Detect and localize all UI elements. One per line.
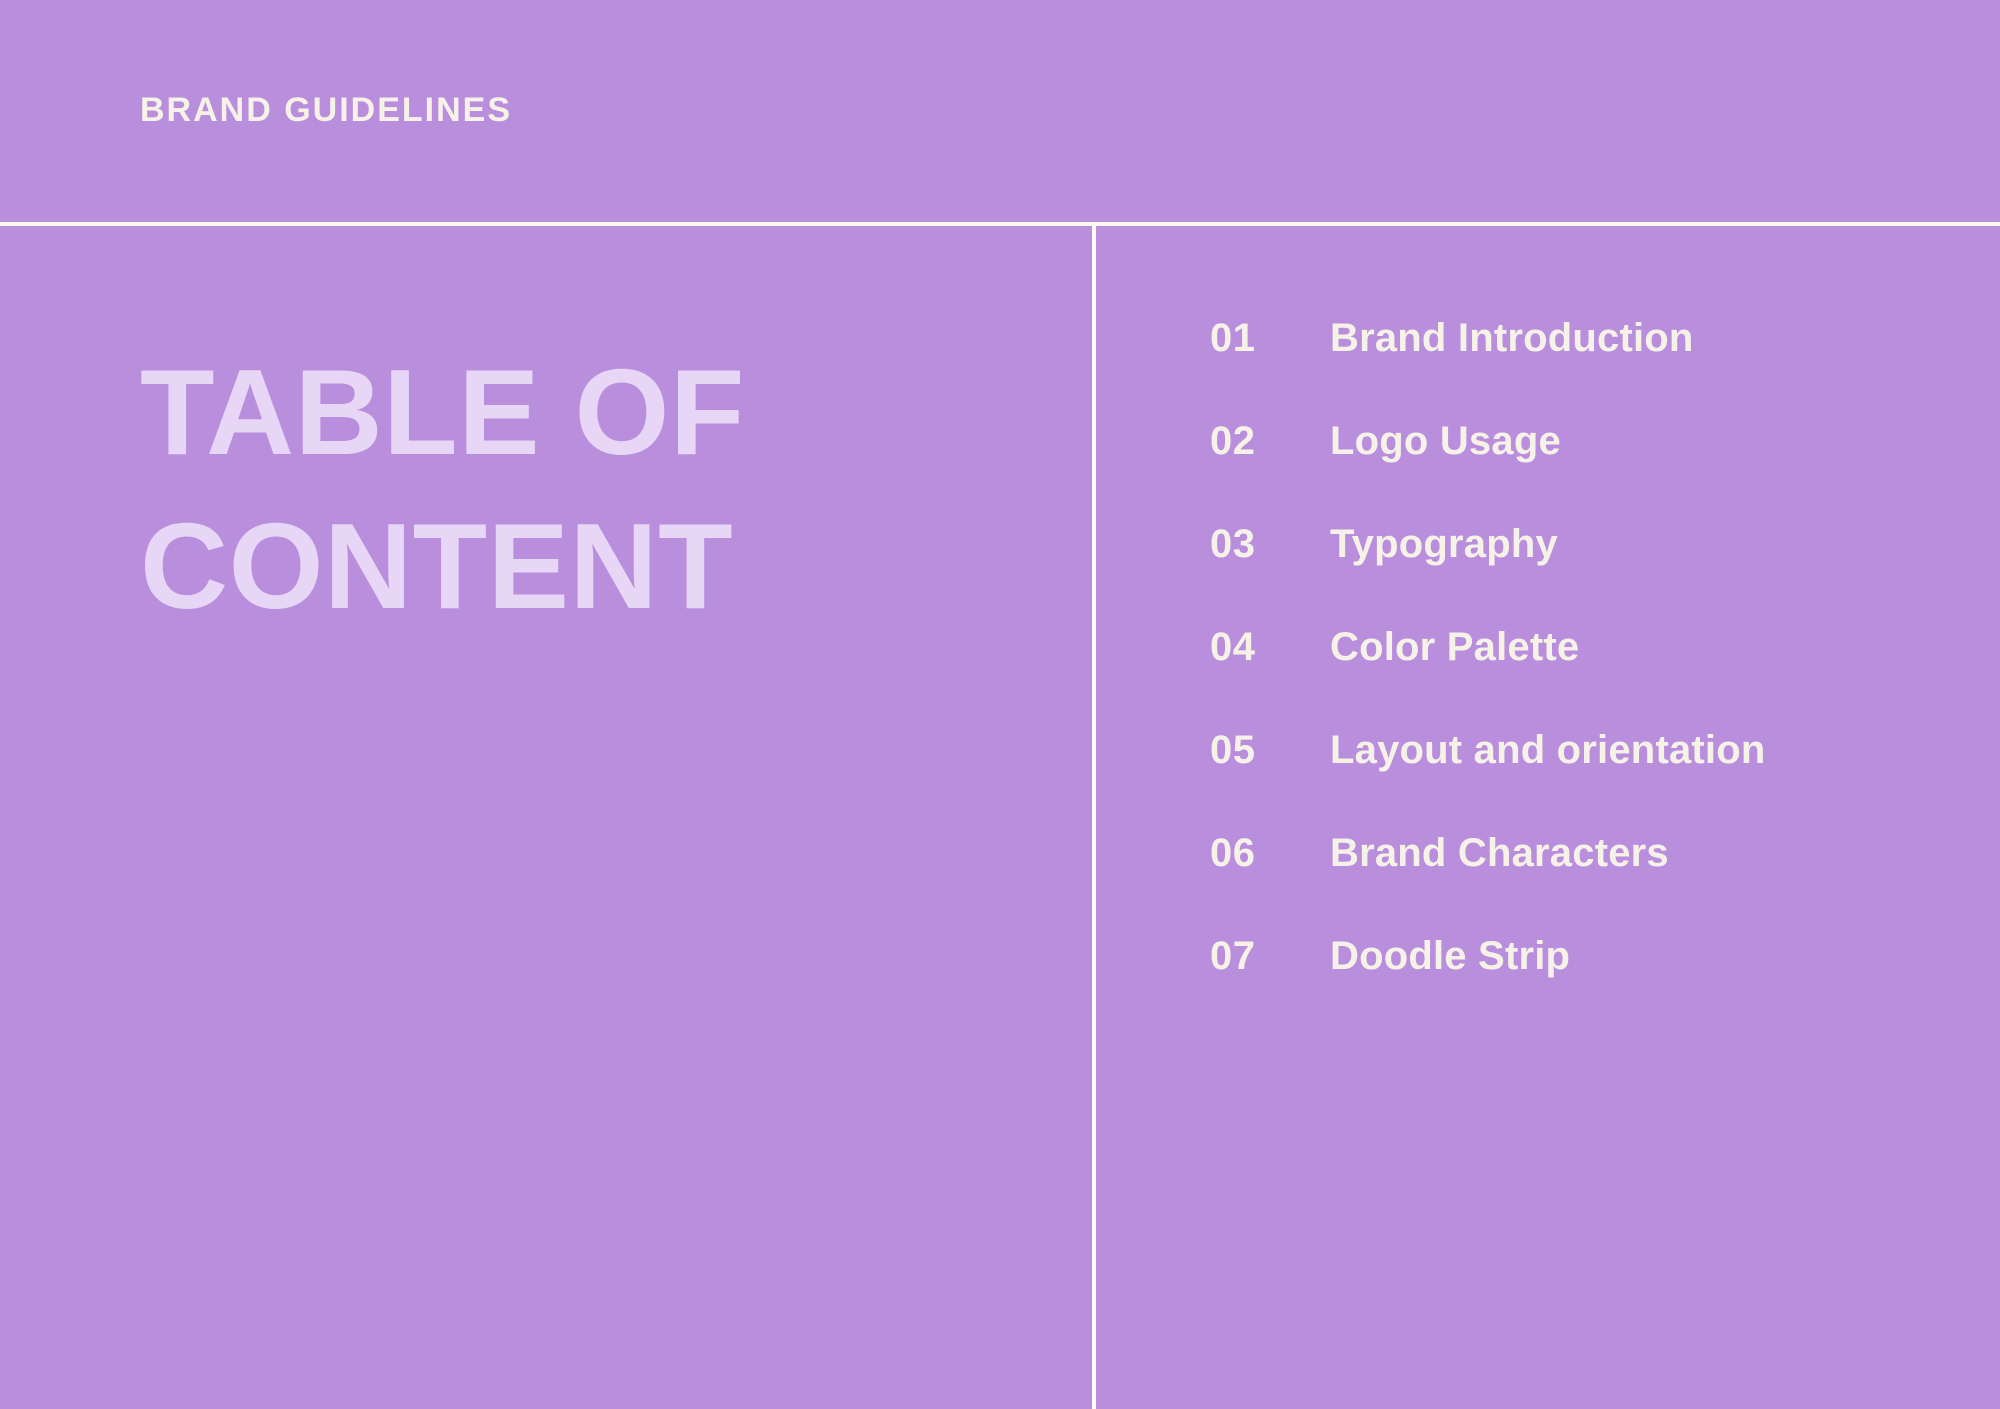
toc-entry-label: Logo Usage (1330, 421, 1561, 461)
toc-entry-label: Layout and orientation (1330, 730, 1766, 770)
toc-entry-label: Brand Characters (1330, 833, 1669, 873)
right-column: 01 Brand Introduction 02 Logo Usage 03 T… (1096, 226, 2000, 1409)
header-band: BRAND GUIDELINES (0, 0, 2000, 222)
table-of-contents-list: 01 Brand Introduction 02 Logo Usage 03 T… (1210, 318, 1990, 1039)
toc-entry-label: Doodle Strip (1330, 936, 1570, 976)
toc-entry-02[interactable]: 02 Logo Usage (1210, 421, 1990, 524)
toc-entry-07[interactable]: 07 Doodle Strip (1210, 936, 1990, 1039)
toc-entry-03[interactable]: 03 Typography (1210, 524, 1990, 627)
toc-entry-06[interactable]: 06 Brand Characters (1210, 833, 1990, 936)
brand-guidelines-toc-page: BRAND GUIDELINES TABLE OF CONTENT 01 Bra… (0, 0, 2000, 1409)
toc-entry-number: 01 (1210, 318, 1330, 358)
toc-entry-label: Brand Introduction (1330, 318, 1694, 358)
toc-entry-label: Typography (1330, 524, 1558, 564)
page-title-line-2: CONTENT (140, 490, 1040, 644)
page-title: TABLE OF CONTENT (140, 336, 1040, 643)
toc-entry-01[interactable]: 01 Brand Introduction (1210, 318, 1990, 421)
toc-entry-number: 03 (1210, 524, 1330, 564)
document-eyebrow-label: BRAND GUIDELINES (140, 93, 512, 127)
left-column: TABLE OF CONTENT (0, 226, 1092, 1409)
toc-entry-04[interactable]: 04 Color Palette (1210, 627, 1990, 730)
toc-entry-number: 02 (1210, 421, 1330, 461)
toc-entry-number: 06 (1210, 833, 1330, 873)
page-title-line-1: TABLE OF (140, 336, 1040, 490)
toc-entry-05[interactable]: 05 Layout and orientation (1210, 730, 1990, 833)
toc-entry-number: 04 (1210, 627, 1330, 667)
toc-entry-number: 05 (1210, 730, 1330, 770)
toc-entry-label: Color Palette (1330, 627, 1579, 667)
toc-entry-number: 07 (1210, 936, 1330, 976)
